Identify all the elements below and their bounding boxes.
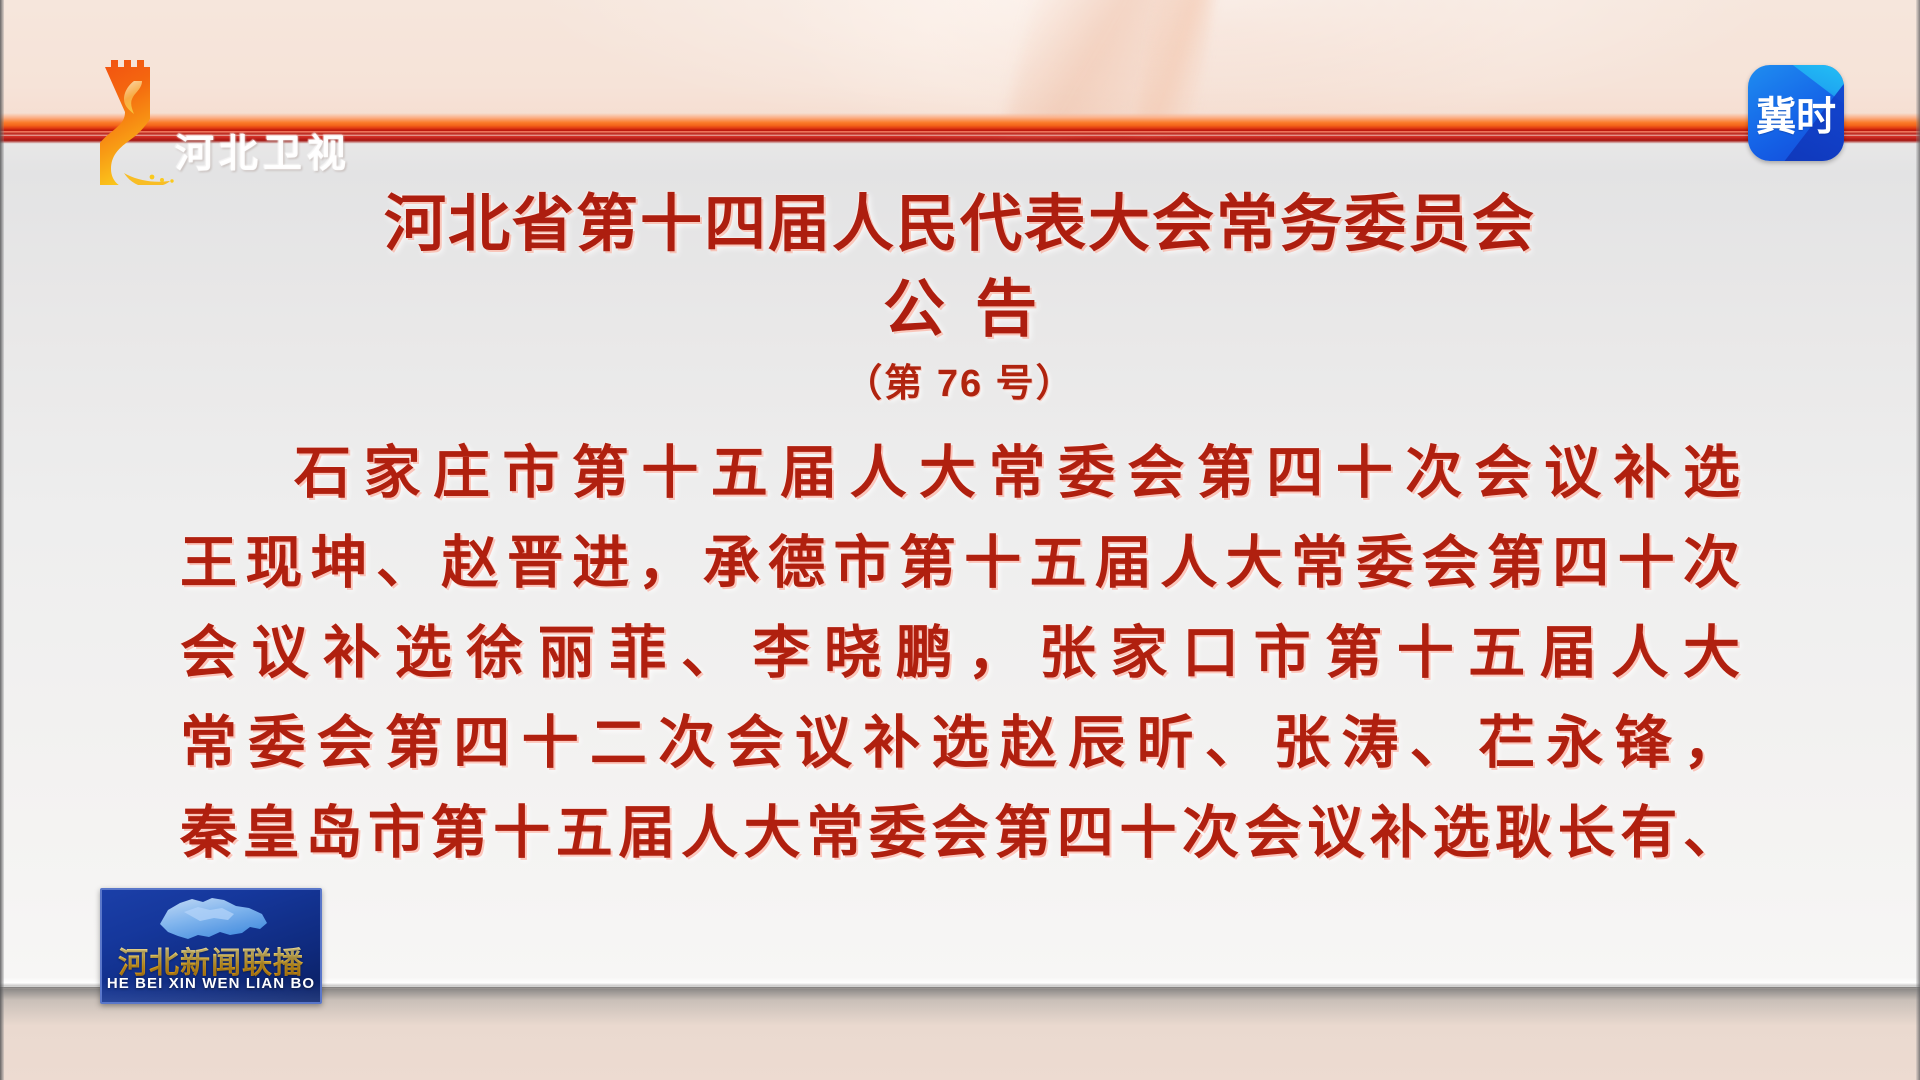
document-number: （第 76 号） (0, 352, 1920, 407)
document-body-line: 石家庄市第十五届人大常委会第四十次会议补选 (180, 428, 1740, 518)
program-identification-bug: 河北新闻联播 HE BEI XIN WEN LIAN BO (100, 888, 322, 1004)
document-body-line: 秦皇岛市第十五届人大常委会第四十次会议补选耿长有、 (180, 788, 1740, 878)
station-logo: 河北卫视 (100, 55, 400, 185)
station-logo-label: 河北卫视 (175, 123, 351, 179)
document-body-line: 王现坤、赵晋进，承德市第十五届人大常委会第四十次 (180, 518, 1740, 608)
document-body: 石家庄市第十五届人大常委会第四十次会议补选 王现坤、赵晋进，承德市第十五届人大常… (180, 428, 1740, 878)
jishi-app-logo: 冀时 (1748, 65, 1844, 161)
document-body-line: 常委会第四十二次会议补选赵辰昕、张涛、芢永锋， (180, 698, 1740, 788)
jishi-logo-label: 冀时 (1748, 65, 1844, 161)
program-bug-pinyin-title: HE BEI XIN WEN LIAN BO (102, 975, 320, 992)
document-title: 河北省第十四届人民代表大会常务委员会 (0, 185, 1920, 265)
document-subtitle: 公告 (0, 272, 1920, 348)
document-body-line: 会议补选徐丽菲、李晓鹏，张家口市第十五届人大 (180, 608, 1740, 698)
broadcast-frame: 河北卫视 冀时 河北省第十四届人民代表大会常务委员会 公告 （第 76 号） 石… (0, 0, 1920, 1080)
